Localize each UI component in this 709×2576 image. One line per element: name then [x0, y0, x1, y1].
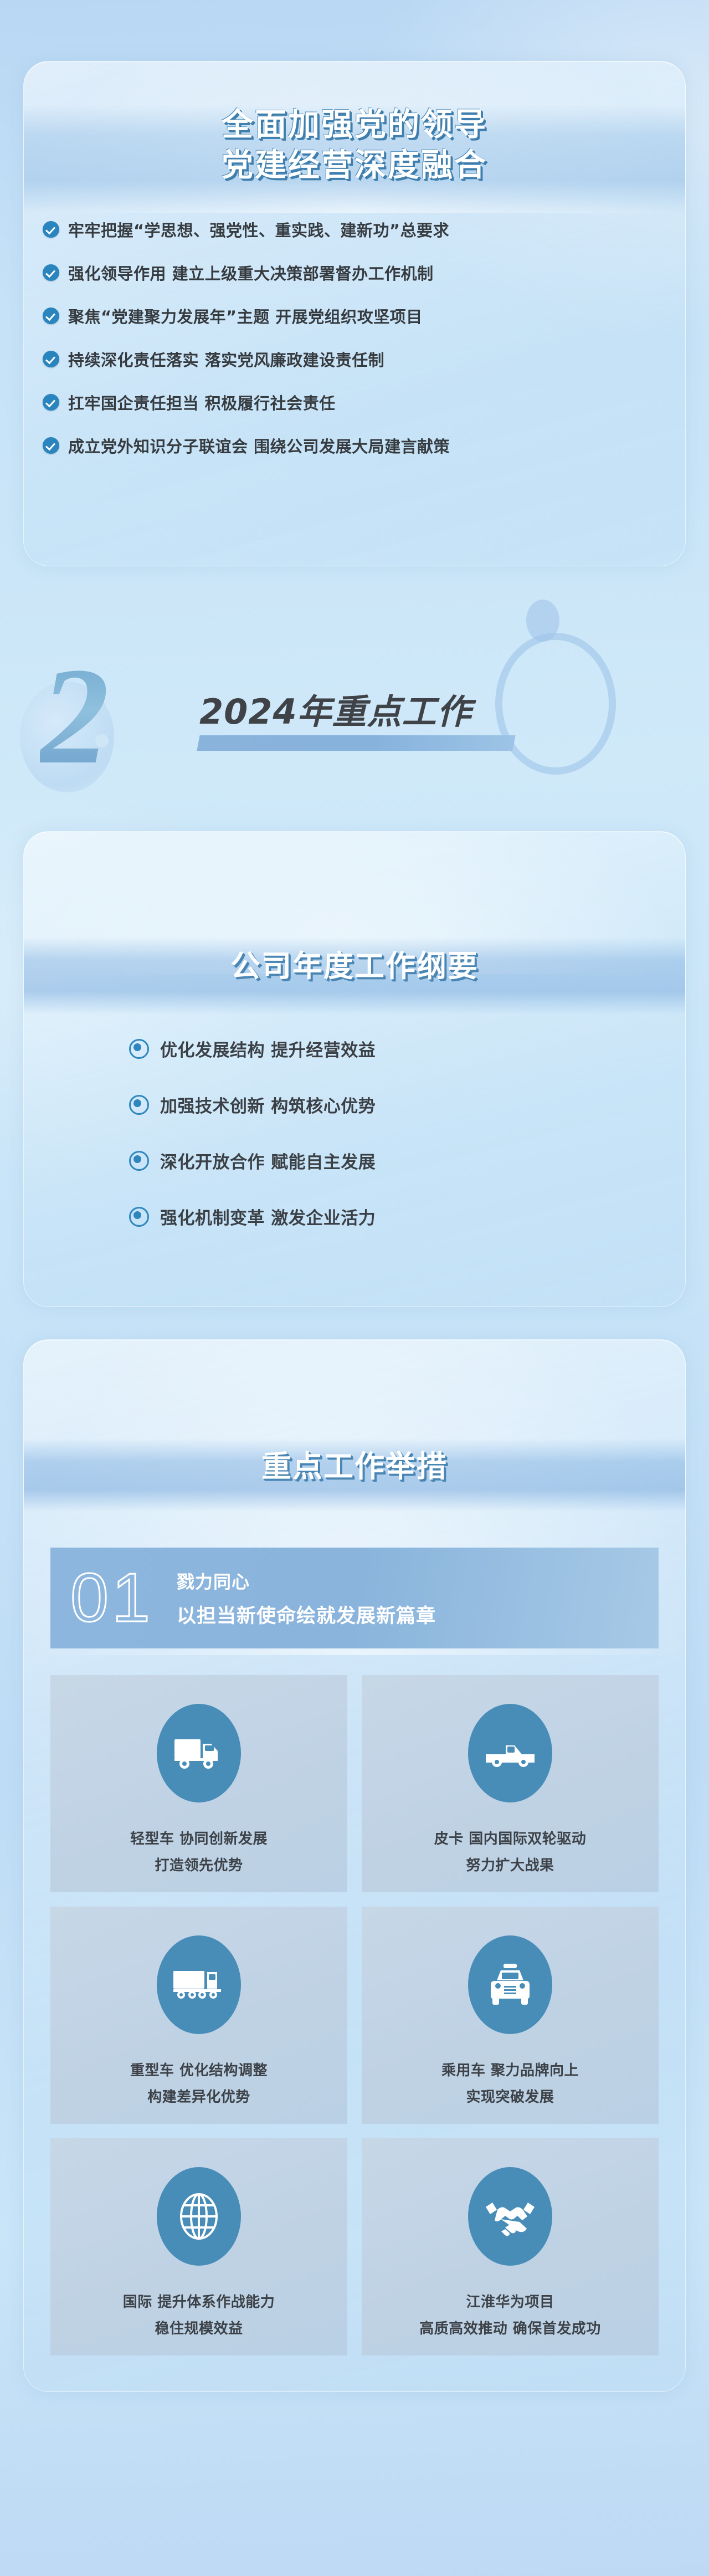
measures-title: 重点工作举措: [24, 1442, 685, 1486]
tile-line-2: 构建差异化优势: [130, 2084, 268, 2111]
step-line-2: 以担当新使命绘就发展新篇章: [177, 1600, 436, 1628]
section-annual-outline: 公司年度工作纲要 优化发展结构 提升经营效益 加强技术创新 构筑核心优势 深化开…: [23, 831, 686, 1307]
outline-text: 强化机制变革 激发企业活力: [160, 1204, 376, 1229]
list-item: 成立党外知识分子联谊会 围绕公司发展大局建言献策: [43, 434, 685, 457]
handshake-icon: [468, 2167, 552, 2266]
measure-tile[interactable]: 重型车 优化结构调整 构建差异化优势: [50, 1907, 347, 2124]
section-key-measures: 重点工作举措 01 戮力同心 以担当新使命绘就发展新篇章: [23, 1339, 686, 2392]
pickup-truck-icon: [468, 1704, 552, 1802]
tile-caption: 国际 提升体系作战能力 稳住规模效益: [123, 2289, 275, 2342]
tile-caption: 皮卡 国内国际双轮驱动 努力扩大战果: [434, 1826, 587, 1879]
outline-text: 优化发展结构 提升经营效益: [160, 1036, 376, 1061]
list-item: 持续深化责任落实 落实党风廉政建设责任制: [43, 347, 685, 371]
bullet-text: 成立党外知识分子联谊会 围绕公司发展大局建言献策: [68, 434, 450, 457]
tile-caption: 重型车 优化结构调整 构建差异化优势: [130, 2057, 268, 2111]
tile-line-2: 打造领先优势: [130, 1852, 268, 1879]
step-number: 01: [70, 1564, 153, 1632]
list-item: 强化领导作用 建立上级重大决策部署督办工作机制: [43, 261, 685, 284]
measure-tile[interactable]: 江淮华为项目 高质高效推动 确保首发成功: [362, 2138, 659, 2355]
check-circle-icon: [43, 394, 59, 411]
outline-text: 深化开放合作 赋能自主发展: [160, 1148, 376, 1173]
section-2024-title: 2024年重点工作: [199, 684, 472, 734]
tile-line-1: 国际 提升体系作战能力: [123, 2294, 275, 2311]
tile-line-1: 乘用车 聚力品牌向上: [441, 2062, 579, 2079]
step-line-1: 戮力同心: [177, 1568, 436, 1594]
bullet-text: 持续深化责任落实 落实党风廉政建设责任制: [68, 347, 384, 371]
list-item: 深化开放合作 赋能自主发展: [129, 1148, 685, 1173]
list-item: 牢牢把握“学思想、强党性、重实践、建新功”总要求: [43, 218, 685, 241]
tile-line-1: 皮卡 国内国际双轮驱动: [434, 1831, 587, 1847]
list-item: 扛牢国企责任担当 积极履行社会责任: [43, 391, 685, 414]
radio-dot-icon: [129, 1207, 149, 1227]
check-circle-icon: [43, 351, 59, 367]
list-item: 加强技术创新 构筑核心优势: [129, 1092, 685, 1117]
measure-tile[interactable]: 乘用车 聚力品牌向上 实现突破发展: [362, 1907, 659, 2124]
tile-caption: 乘用车 聚力品牌向上 实现突破发展: [441, 2057, 579, 2111]
tile-line-1: 江淮华为项目: [466, 2294, 554, 2311]
tile-line-2: 稳住规模效益: [123, 2316, 275, 2342]
section-2024-heading: 2 2024年重点工作: [0, 588, 709, 827]
infographic-page: 全面加强党的领导 党建经营深度融合 牢牢把握“学思想、强党性、重实践、建新功”总…: [0, 0, 709, 2576]
tile-line-2: 实现突破发展: [441, 2084, 579, 2111]
list-item: 聚焦“党建聚力发展年”主题 开展党组织攻坚项目: [43, 304, 685, 327]
box-truck-icon: [157, 1704, 241, 1802]
outline-text: 加强技术创新 构筑核心优势: [160, 1092, 376, 1117]
bullet-text: 强化领导作用 建立上级重大决策部署督办工作机制: [68, 261, 434, 284]
tile-line-1: 轻型车 协同创新发展: [130, 1831, 268, 1847]
bullet-text: 聚焦“党建聚力发展年”主题 开展党组织攻坚项目: [68, 304, 423, 327]
decorative-blob-top: [526, 600, 559, 642]
party-title-line-1: 全面加强党的领导: [24, 105, 685, 145]
tile-caption: 江淮华为项目 高质高效推动 确保首发成功: [419, 2289, 601, 2342]
radio-dot-icon: [129, 1095, 149, 1115]
tile-line-2: 高质高效推动 确保首发成功: [419, 2316, 601, 2342]
section-number-watermark: 2: [40, 647, 109, 786]
step-banner-01: 01 戮力同心 以担当新使命绘就发展新篇章: [50, 1548, 659, 1648]
tile-caption: 轻型车 协同创新发展 打造领先优势: [130, 1826, 268, 1879]
list-item: 强化机制变革 激发企业活力: [129, 1204, 685, 1229]
heavy-truck-icon: [157, 1935, 241, 2034]
decorative-dot: [95, 734, 109, 747]
outline-item-list: 优化发展结构 提升经营效益 加强技术创新 构筑核心优势 深化开放合作 赋能自主发…: [24, 1036, 685, 1229]
measure-tile[interactable]: 国际 提升体系作战能力 稳住规模效益: [50, 2138, 347, 2355]
step-text-block: 戮力同心 以担当新使命绘就发展新篇章: [177, 1568, 436, 1628]
radio-dot-icon: [129, 1151, 149, 1171]
check-circle-icon: [43, 221, 59, 238]
party-title-line-2: 党建经营深度融合: [24, 145, 685, 186]
radio-dot-icon: [129, 1039, 149, 1059]
measure-tile[interactable]: 轻型车 协同创新发展 打造领先优势: [50, 1675, 347, 1892]
decorative-ring: [495, 633, 616, 775]
check-circle-icon: [43, 437, 59, 454]
tile-line-1: 重型车 优化结构调整: [130, 2062, 268, 2079]
globe-icon: [157, 2167, 241, 2266]
list-item: 优化发展结构 提升经营效益: [129, 1036, 685, 1061]
party-title-block: 全面加强党的领导 党建经营深度融合: [24, 105, 685, 186]
heading-underline-bar: [197, 735, 515, 751]
passenger-car-icon: [468, 1935, 552, 2034]
section-party-leadership: 全面加强党的领导 党建经营深度融合 牢牢把握“学思想、强党性、重实践、建新功”总…: [23, 61, 686, 566]
party-bullet-list: 牢牢把握“学思想、强党性、重实践、建新功”总要求 强化领导作用 建立上级重大决策…: [24, 218, 685, 457]
outline-title: 公司年度工作纲要: [24, 941, 685, 985]
check-circle-icon: [43, 308, 59, 324]
bullet-text: 扛牢国企责任担当 积极履行社会责任: [68, 391, 336, 414]
measure-tile[interactable]: 皮卡 国内国际双轮驱动 努力扩大战果: [362, 1675, 659, 1892]
measure-tile-grid: 轻型车 协同创新发展 打造领先优势 皮卡 国内国际双轮驱动: [50, 1675, 659, 2355]
bullet-text: 牢牢把握“学思想、强党性、重实践、建新功”总要求: [68, 218, 449, 241]
check-circle-icon: [43, 264, 59, 281]
tile-line-2: 努力扩大战果: [434, 1852, 587, 1879]
